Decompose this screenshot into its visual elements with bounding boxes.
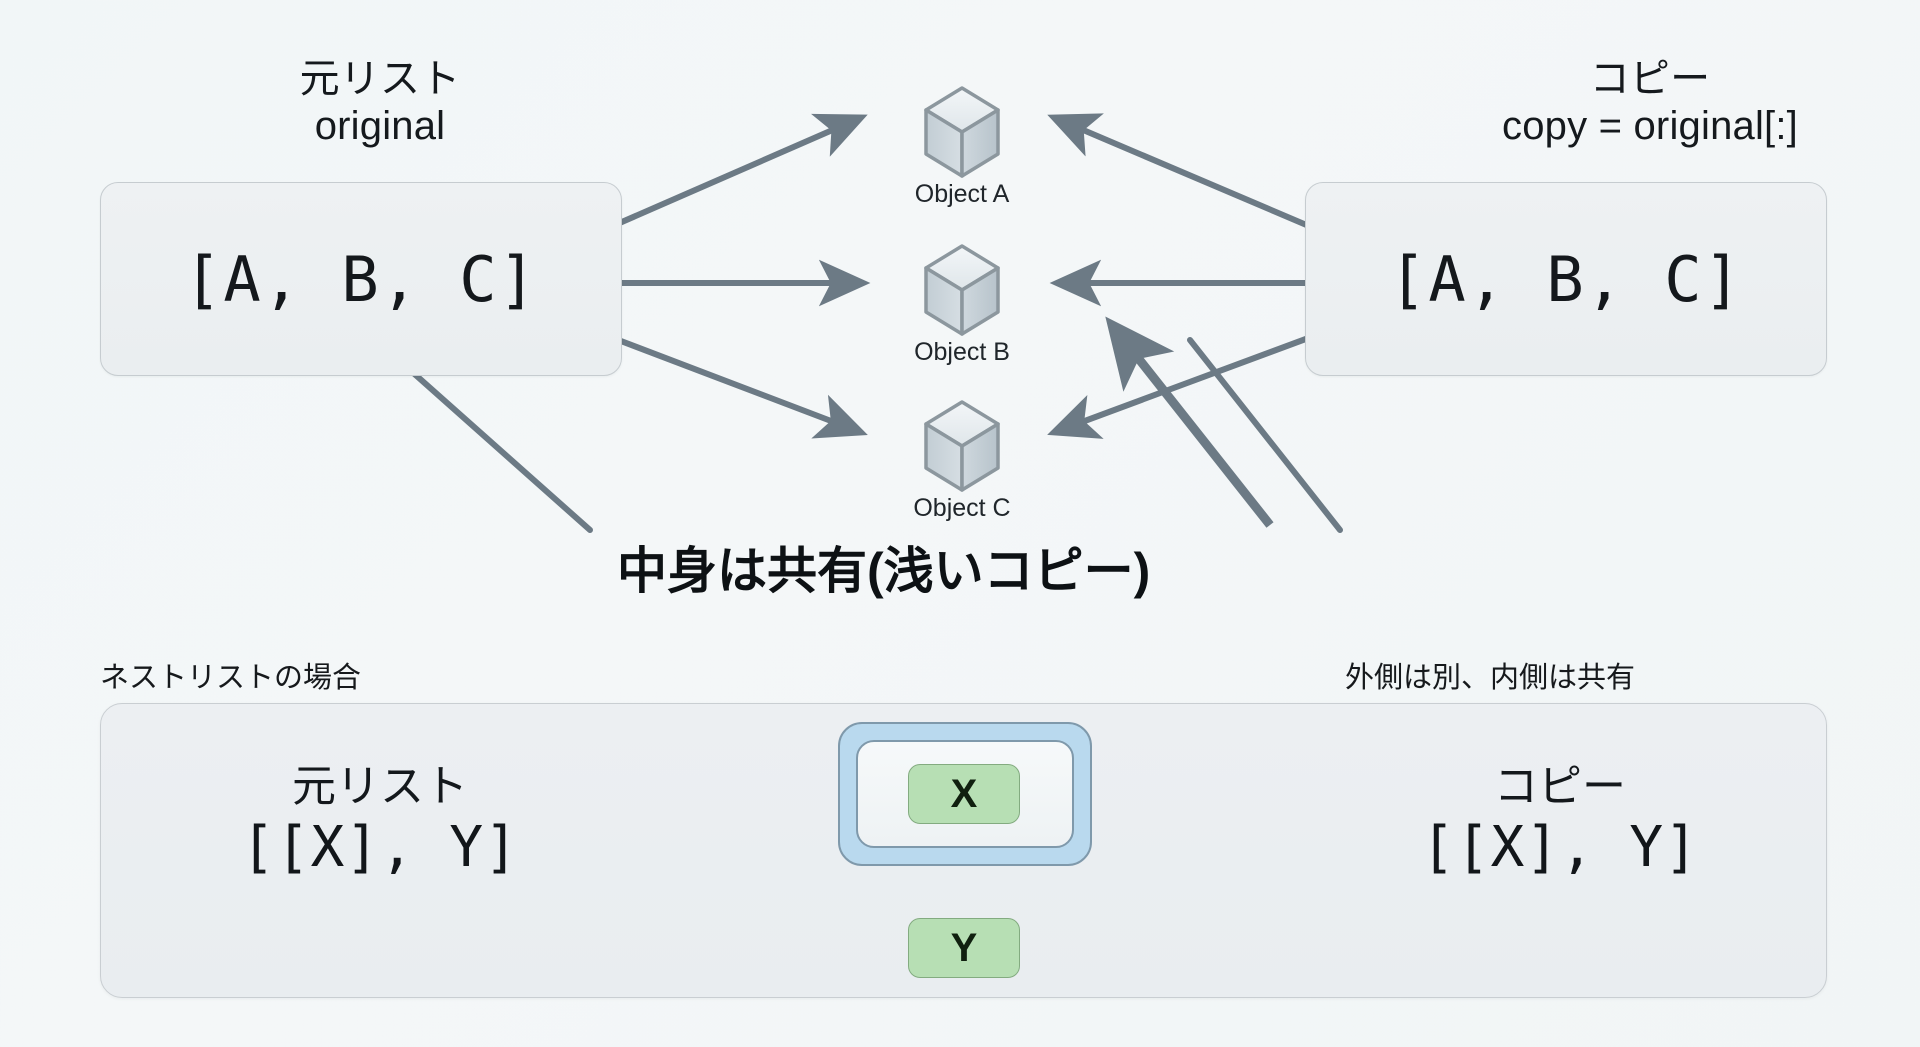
original-list-box[interactable]: [A, B, C]	[100, 182, 622, 376]
nested-copy-jp: コピー	[1395, 762, 1725, 813]
copy-list-label: コピー copy = original[:]	[1370, 56, 1920, 150]
object-a-label: Object A	[877, 180, 1047, 209]
copy-list-value: [A, B, C]	[1389, 243, 1743, 316]
object-c[interactable]: Object C	[877, 490, 1047, 523]
object-b[interactable]: Object B	[877, 334, 1047, 367]
copy-list-box[interactable]: [A, B, C]	[1305, 182, 1827, 376]
cube-icon-a	[926, 88, 998, 176]
outer-inner-note: 外側は別、内側は共有	[1345, 654, 1635, 696]
diagram-canvas: 元リスト original コピー copy = original[:] [A,…	[0, 0, 1920, 1047]
original-list-value: [A, B, C]	[184, 243, 538, 316]
item-y-box[interactable]: Y	[908, 918, 1020, 978]
object-c-label: Object C	[877, 494, 1047, 523]
item-y-label: Y	[951, 926, 978, 971]
object-a[interactable]: Object A	[877, 176, 1047, 209]
shallow-copy-caption: 中身は共有(浅いコピー)	[617, 531, 1150, 603]
nested-copy-label: コピー [[X], Y]	[1395, 762, 1725, 880]
cube-icon-c	[926, 402, 998, 490]
nested-copy-code: [[X], Y]	[1395, 815, 1725, 880]
item-x-box[interactable]: X	[908, 764, 1020, 824]
cube-icon-b	[926, 246, 998, 334]
object-b-label: Object B	[877, 338, 1047, 367]
nested-original-label: 元リスト [[X], Y]	[215, 762, 545, 880]
item-x-label: X	[951, 772, 978, 817]
nested-original-jp: 元リスト	[215, 762, 545, 813]
original-label-jp: 元リスト	[180, 56, 580, 103]
copy-label-jp: コピー	[1370, 56, 1920, 103]
copy-label-code: copy = original[:]	[1370, 103, 1920, 150]
original-label-en: original	[180, 103, 580, 150]
nested-list-note: ネストリストの場合	[100, 654, 361, 696]
original-list-label: 元リスト original	[180, 56, 580, 150]
nested-original-code: [[X], Y]	[215, 815, 545, 880]
